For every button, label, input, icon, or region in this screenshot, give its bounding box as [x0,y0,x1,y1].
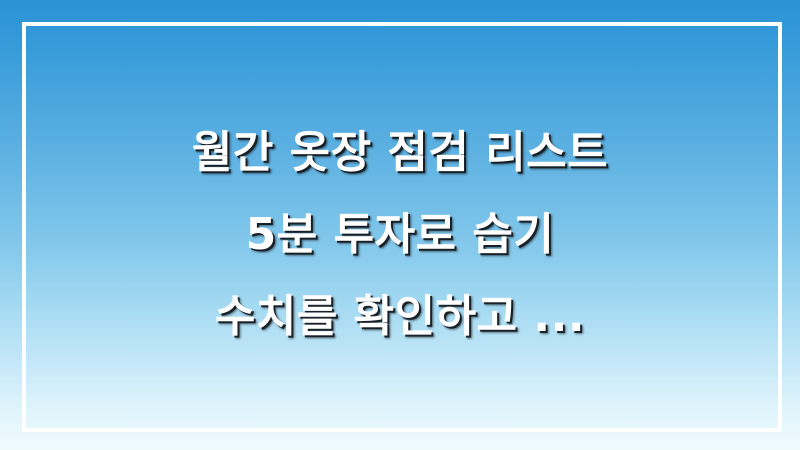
headline-line-2: 5분 투자로 습기 [0,194,800,276]
headline-block: 월간 옷장 점검 리스트 5분 투자로 습기 수치를 확인하고 ... [0,112,800,358]
title-card-canvas: 월간 옷장 점검 리스트 5분 투자로 습기 수치를 확인하고 ... [0,0,800,450]
headline-line-3: 수치를 확인하고 ... [0,276,800,358]
headline-line-1: 월간 옷장 점검 리스트 [0,112,800,194]
